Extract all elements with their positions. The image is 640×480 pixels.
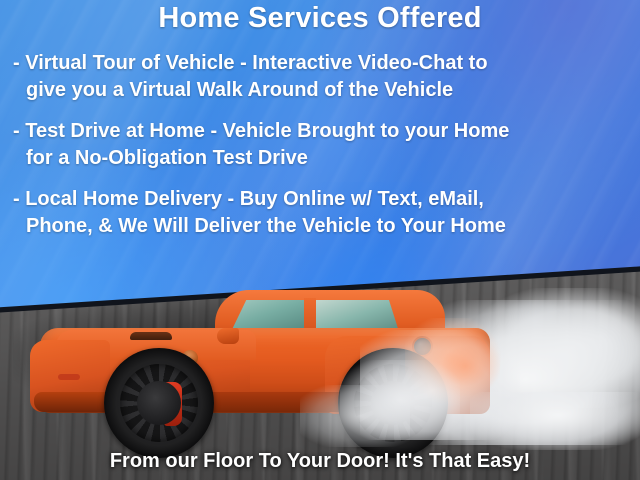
service-item-line1: - Test Drive at Home - Vehicle Brought t…: [13, 120, 509, 142]
service-item-home-delivery: - Local Home Delivery - Buy Online w/ Te…: [13, 186, 630, 240]
service-item-line1: - Virtual Tour of Vehicle - Interactive …: [13, 52, 488, 74]
front-wheel-hub: [137, 381, 181, 425]
service-item-line2: Phone, & We Will Deliver the Vehicle to …: [13, 213, 630, 240]
car-side-mirror: [217, 328, 239, 344]
service-item-test-drive: - Test Drive at Home - Vehicle Brought t…: [13, 118, 630, 172]
vehicle-illustration: [20, 288, 490, 438]
rear-wheel-hub: [371, 381, 415, 425]
service-item-line1: - Local Home Delivery - Buy Online w/ Te…: [13, 188, 484, 210]
service-item-virtual-tour: - Virtual Tour of Vehicle - Interactive …: [13, 50, 630, 104]
car-side-marker-light: [58, 374, 80, 380]
banner-title: Home Services Offered: [0, 2, 640, 35]
services-list: - Virtual Tour of Vehicle - Interactive …: [13, 50, 630, 254]
banner-tagline: From our Floor To Your Door! It's That E…: [0, 450, 640, 473]
service-item-line2: give you a Virtual Walk Around of the Ve…: [13, 77, 630, 104]
service-item-line2: for a No-Obligation Test Drive: [13, 145, 630, 172]
car-rear-wheel: [338, 348, 448, 458]
car-front-wheel: [104, 348, 214, 458]
car-hood-scoop: [130, 332, 172, 340]
home-services-banner: Home Services Offered - Virtual Tour of …: [0, 0, 640, 480]
